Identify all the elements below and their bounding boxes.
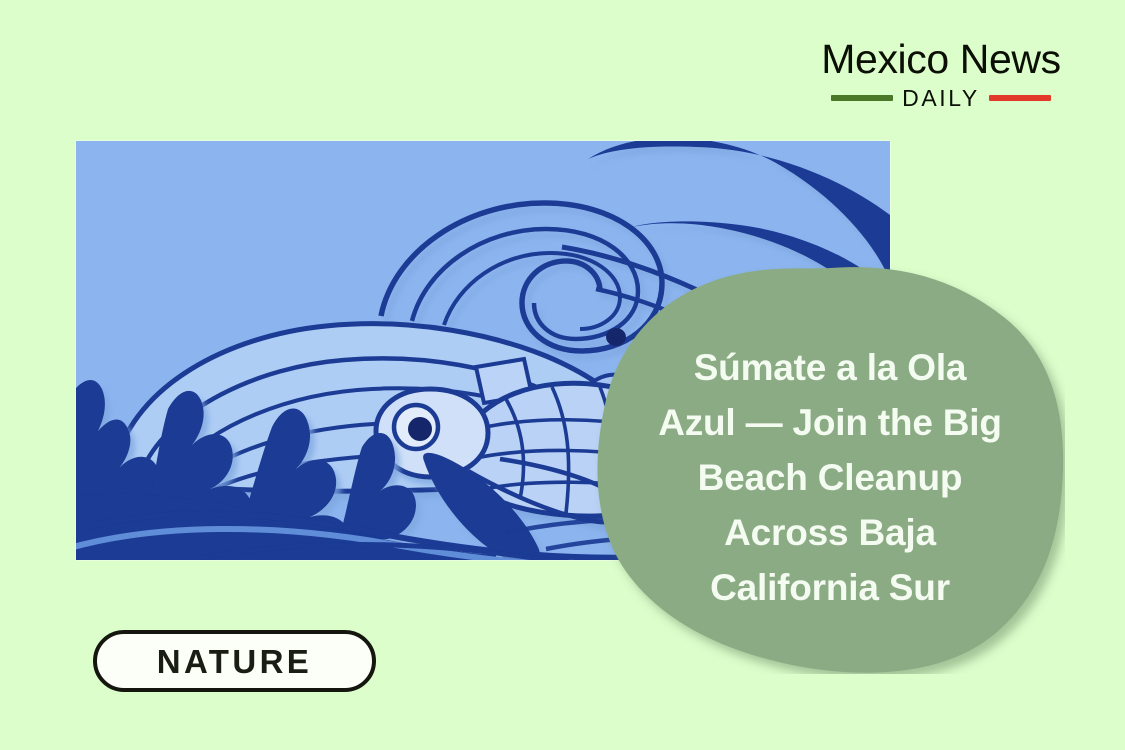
headline-blob: Súmate a la Ola Azul — Join the Big Beac…	[595, 262, 1065, 674]
brand-logo[interactable]: Mexico News DAILY	[805, 36, 1077, 109]
brand-tagline: DAILY	[902, 87, 980, 110]
brand-tagline-row: DAILY	[805, 87, 1077, 109]
category-badge-label: NATURE	[157, 645, 312, 678]
article-poster: Mexico News DAILY	[0, 0, 1125, 750]
brand-rule-green-icon	[831, 95, 893, 101]
category-badge[interactable]: NATURE	[93, 630, 376, 692]
article-headline: Súmate a la Ola Azul — Join the Big Beac…	[633, 340, 1027, 615]
brand-wordmark: Mexico News	[805, 36, 1077, 82]
brand-rule-red-icon	[989, 95, 1051, 101]
